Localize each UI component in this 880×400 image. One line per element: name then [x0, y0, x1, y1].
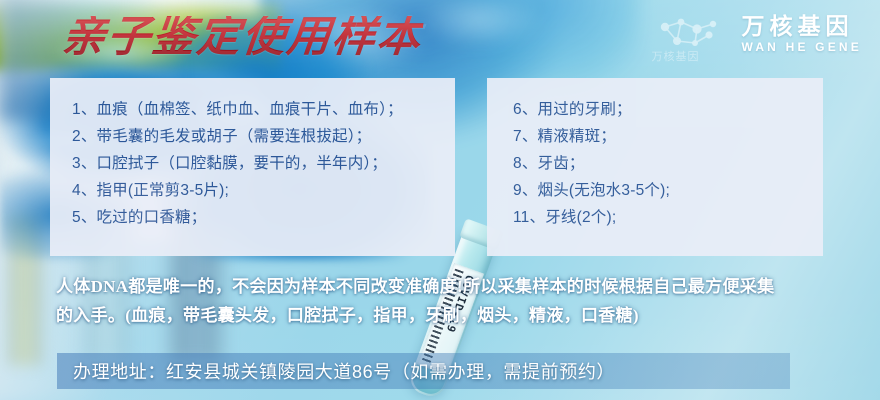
sample-list-left: 1、血痕（血棉签、纸巾血、血痕干片、血布）； 2、带毛囊的毛发或胡子（需要连根拔… [50, 78, 455, 231]
note-paragraph: 人体DNA都是唯一的，不会因为样本不同改变准确度!所以采集样本的时候根据自己最方… [56, 272, 846, 330]
list-item: 9、烟头(无泡水3-5个); [513, 177, 823, 204]
list-item: 5、吃过的口香糖； [72, 204, 455, 231]
address-text: 办理地址：红安县城关镇陵园大道86号（如需办理，需提前预约） [57, 358, 615, 384]
list-item: 11、牙线(2个); [513, 204, 823, 231]
list-item: 2、带毛囊的毛发或胡子（需要连根拔起）； [72, 123, 455, 150]
list-item: 3、口腔拭子（口腔黏膜，要干的，半年内）； [72, 150, 455, 177]
logo-name-en: WAN HE GENE [741, 41, 862, 54]
list-item: 6、用过的牙刷； [513, 96, 823, 123]
list-item: 7、精液精斑； [513, 123, 823, 150]
sample-list-panel-left: 1、血痕（血棉签、纸巾血、血痕干片、血布）； 2、带毛囊的毛发或胡子（需要连根拔… [50, 78, 455, 256]
list-item: 1、血痕（血棉签、纸巾血、血痕干片、血布）； [72, 96, 455, 123]
dna-molecule-icon: 万核基因 [657, 17, 729, 51]
list-item: 4、指甲(正常剪3-5片); [72, 177, 455, 204]
logo-watermark-text: 万核基因 [651, 48, 699, 64]
page-title: 亲子鉴定使用样本 [60, 16, 425, 59]
note-line-1: 人体DNA都是唯一的，不会因为样本不同改变准确度!所以采集样本的时候根据自己最方… [56, 272, 846, 301]
sample-list-right: 6、用过的牙刷； 7、精液精斑； 8、牙齿； 9、烟头(无泡水3-5个); 11… [487, 78, 823, 231]
logo-name-cn: 万核基因 [741, 14, 862, 38]
sample-list-panel-right: 6、用过的牙刷； 7、精液精斑； 8、牙齿； 9、烟头(无泡水3-5个); 11… [487, 78, 823, 256]
note-line-2: 的入手。(血痕，带毛囊头发，口腔拭子，指甲，牙刷，烟头，精液，口香糖) [56, 301, 846, 330]
address-bar: 办理地址：红安县城关镇陵园大道86号（如需办理，需提前预约） [57, 353, 790, 389]
brand-logo: 万核基因 万核基因 WAN HE GENE [657, 14, 862, 54]
poster-root: COVID-19 亲子鉴定使用样本 [0, 0, 880, 400]
list-item: 8、牙齿； [513, 150, 823, 177]
